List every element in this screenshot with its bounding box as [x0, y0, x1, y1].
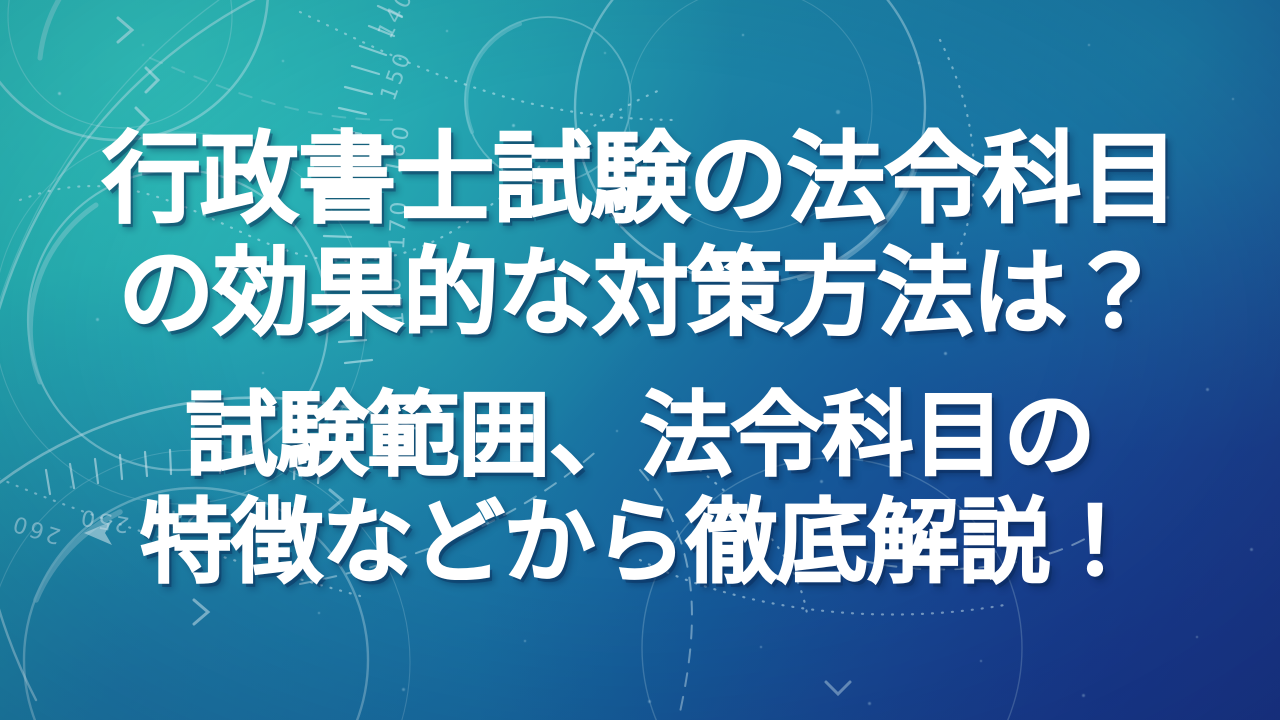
thumbnail-canvas: 140 150 160 170 180 240 250 260 [0, 0, 1280, 720]
headline-line-1: 行政書士試験の法令科目 [102, 123, 1178, 238]
headline-block: 行政書士試験の法令科目 の効果的な対策方法は？ 試験範囲、法令科目の 特徴などか… [0, 0, 1280, 720]
headline-group-question: 行政書士試験の法令科目 の効果的な対策方法は？ [102, 123, 1178, 349]
headline-line-4: 特徴などから徹底解説！ [140, 490, 1140, 597]
headline-line-2: の効果的な対策方法は？ [118, 238, 1161, 349]
headline-line-3: 試験範囲、法令科目の [186, 383, 1095, 490]
headline-group-subtitle: 試験範囲、法令科目の 特徴などから徹底解説！ [140, 383, 1140, 596]
